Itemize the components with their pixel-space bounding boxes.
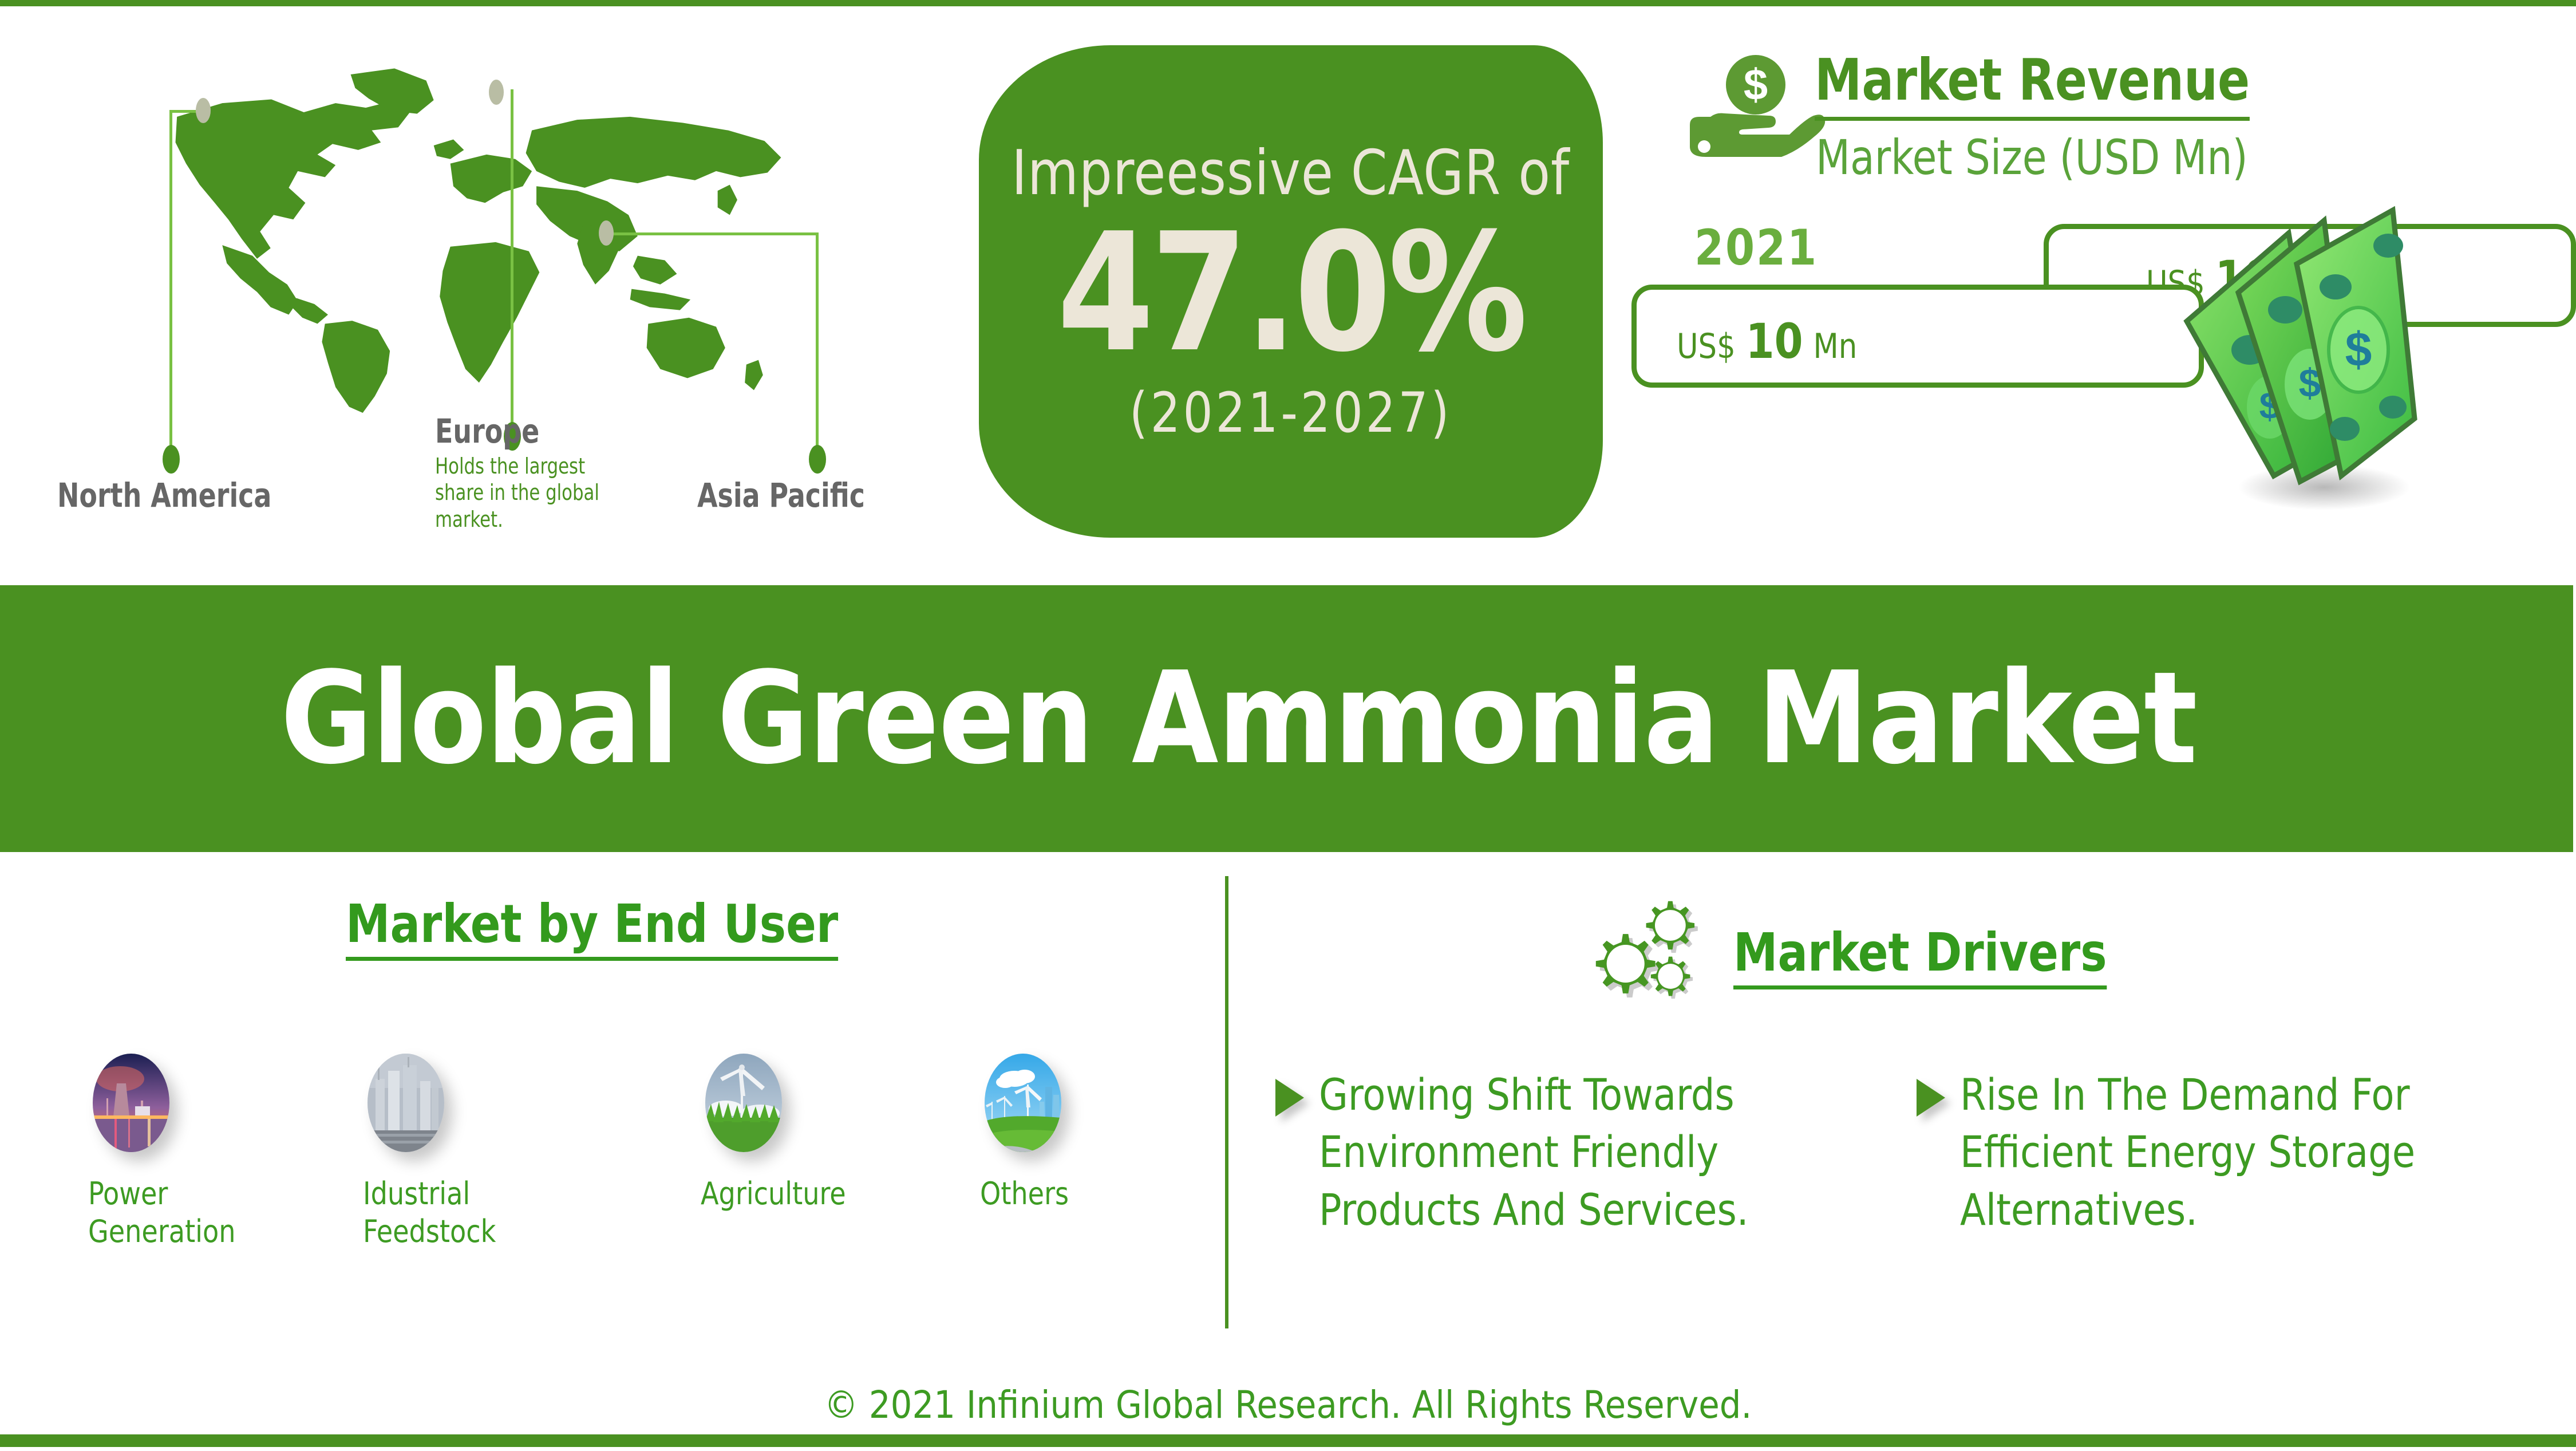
end-user-label-industrial-feedstock: Idustrial Feedstock <box>363 1175 515 1251</box>
revenue-amount-2021: 10 <box>1746 313 1803 369</box>
market-revenue-panel: $ Market Revenue Market Size (USD Mn) US… <box>1649 35 2576 550</box>
revenue-prefix-2021: US$ <box>1677 326 1736 366</box>
power-plant-photo <box>93 1054 169 1152</box>
market-driver-item-2: Rise In The Demand For Efficient Energy … <box>1917 1066 2523 1239</box>
refinery-image <box>368 1054 444 1152</box>
cagr-years-text: (2021-2027) <box>1129 385 1452 440</box>
svg-text:$: $ <box>2345 322 2372 376</box>
cagr-value-text: 47.0% <box>1057 208 1525 379</box>
market-revenue-subtitle: Market Size (USD Mn) <box>1816 129 2248 186</box>
market-drivers-heading: Market Drivers <box>1733 922 2107 989</box>
triangle-bullet-icon <box>1275 1079 1304 1117</box>
connector-north-america-vertical <box>169 110 172 454</box>
svg-text:$: $ <box>1744 61 1768 109</box>
end-user-label-power-generation: Power Generation <box>88 1175 230 1251</box>
world-map-panel: North America Europe Holds the largest s… <box>34 35 962 550</box>
connector-asia-pacific-vertical <box>816 232 819 454</box>
section-divider <box>1225 876 1228 1328</box>
revenue-pill-2021: US$ 10 Mn <box>1631 285 2204 388</box>
map-label-europe: Europe <box>435 412 539 451</box>
market-driver-text-2: Rise In The Demand For Efficient Energy … <box>1960 1066 2488 1239</box>
map-pin-north-america <box>196 98 211 123</box>
map-label-north-america: North America <box>57 476 271 515</box>
map-endpoint-north-america <box>163 445 180 474</box>
hand-holding-dollar-icon: $ <box>1683 49 1826 169</box>
top-section: North America Europe Holds the largest s… <box>0 6 2576 579</box>
map-pin-europe <box>489 80 504 105</box>
revenue-value-2021: US$ 10 Mn <box>1677 317 1857 365</box>
revenue-unit-2021: Mn <box>1813 326 1857 366</box>
cagr-lead-text: Impreessive CAGR of <box>1012 143 1570 204</box>
stack-of-banknotes-icon: $ $ $ <box>2152 178 2462 516</box>
wind-turbine-field-photo <box>705 1054 782 1152</box>
page-title: Global Green Ammonia Market <box>0 655 2197 782</box>
end-user-label-agriculture: Agriculture <box>701 1175 864 1213</box>
top-accent-rule <box>0 0 2576 6</box>
connector-asia-pacific-horizontal <box>607 232 819 235</box>
cagr-badge: Impreessive CAGR of 47.0% (2021-2027) <box>979 45 1603 538</box>
connector-europe-vertical <box>511 89 513 433</box>
others-image <box>985 1054 1061 1152</box>
map-label-asia-pacific: Asia Pacific <box>697 476 865 515</box>
power-plant-image <box>93 1054 169 1152</box>
green-energy-city-photo <box>985 1054 1061 1152</box>
end-user-label-others: Others <box>980 1175 1143 1213</box>
main-title-band: Global Green Ammonia Market <box>0 585 2573 852</box>
market-driver-item-1: Growing Shift Towards Environment Friend… <box>1275 1066 1825 1239</box>
gears-icon <box>1585 898 1717 1018</box>
map-endpoint-asia-pacific <box>809 445 826 474</box>
triangle-bullet-icon <box>1917 1079 1945 1117</box>
footer-copyright: © 2021 Infinium Global Research. All Rig… <box>0 1383 2576 1427</box>
bottom-accent-rule <box>0 1434 2576 1447</box>
revenue-year-2021: 2021 <box>1694 219 1818 277</box>
map-note-europe: Holds the largest share in the global ma… <box>435 453 626 533</box>
end-user-heading: Market by End User <box>346 893 838 961</box>
refinery-photo <box>368 1054 444 1152</box>
market-revenue-title: Market Revenue <box>1815 46 2250 121</box>
connector-north-america-horizontal <box>169 110 199 113</box>
map-pin-asia-pacific <box>599 220 614 246</box>
agriculture-image <box>705 1054 782 1152</box>
market-driver-text-1: Growing Shift Towards Environment Friend… <box>1319 1066 1803 1239</box>
